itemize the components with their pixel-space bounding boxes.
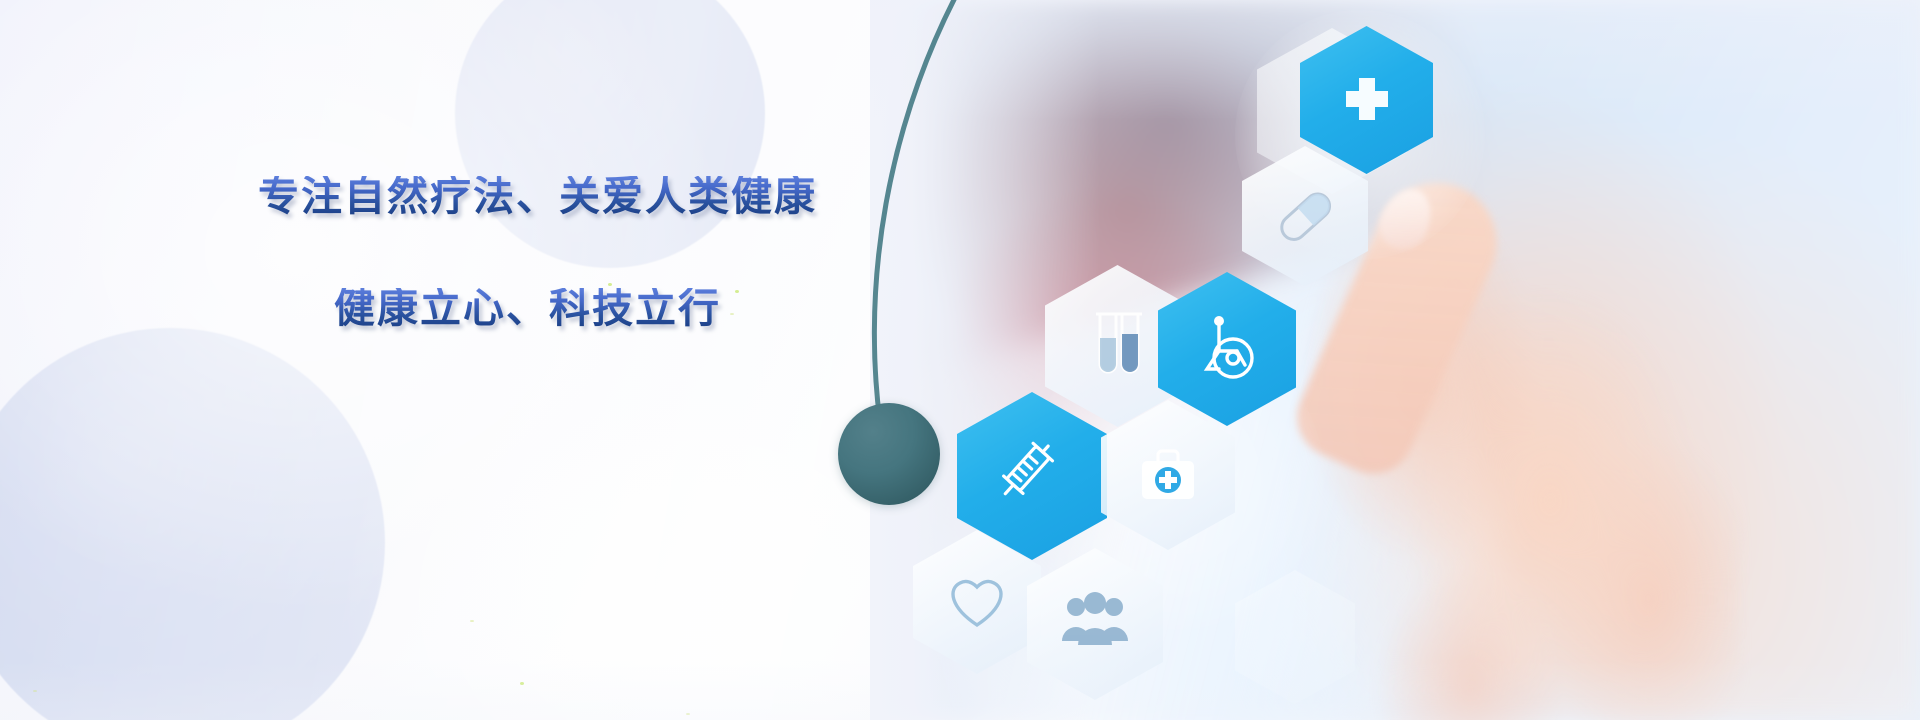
hexagon-accent (1235, 570, 1355, 704)
hexagon-family-group[interactable] (1027, 548, 1163, 700)
speck-dot (33, 690, 37, 692)
health-hero-banner: 专注自然疗法、关爱人类健康 健康立心、科技立行 (0, 0, 1920, 720)
speck-dot (520, 682, 524, 685)
hexagon-icon-cluster (905, 0, 1545, 720)
headline-line-1: 专注自然疗法、关爱人类健康 (258, 176, 898, 217)
decorative-circle-bottom (0, 328, 385, 720)
first-aid-kit-icon (1130, 437, 1206, 513)
headline-block: 专注自然疗法、关爱人类健康 健康立心、科技立行 (258, 176, 898, 329)
pill-capsule-icon (1267, 178, 1343, 254)
hexagon-wheelchair[interactable] (1158, 272, 1296, 426)
heart-icon (942, 567, 1012, 637)
headline-line-2: 健康立心、科技立行 (334, 288, 898, 329)
speck-dot (470, 620, 474, 622)
wheelchair-icon (1189, 311, 1265, 387)
family-group-icon (1056, 589, 1134, 659)
syringe-icon (989, 433, 1075, 519)
test-tubes-icon (1078, 304, 1158, 388)
medical-cross-icon (1330, 63, 1404, 137)
speck-dot (686, 713, 690, 715)
